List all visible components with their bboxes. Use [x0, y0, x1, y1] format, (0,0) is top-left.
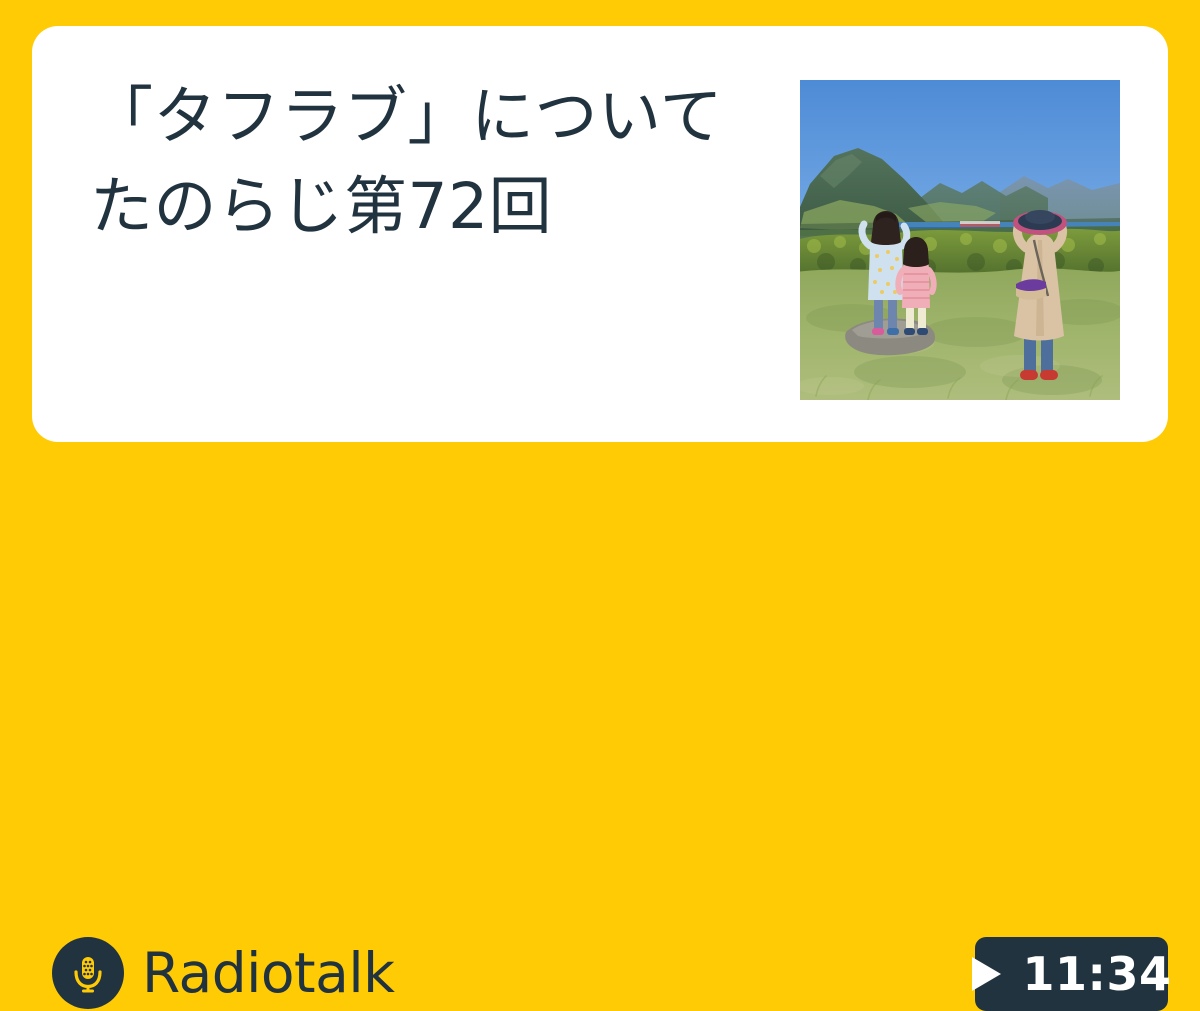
- brand-logo[interactable]: Radiotalk: [52, 937, 394, 1009]
- footer-bar: Radiotalk 11:34: [0, 442, 1200, 630]
- microphone-icon: [66, 951, 110, 995]
- episode-thumbnail: [800, 80, 1120, 400]
- play-button[interactable]: 11:34: [975, 937, 1168, 1011]
- play-triangle-icon: [972, 957, 1001, 991]
- episode-share-card: 「タフラブ」について たのらじ第72回: [32, 26, 1168, 442]
- brand-wordmark: Radiotalk: [142, 946, 394, 1001]
- duration-label: 11:34: [1023, 951, 1172, 997]
- brand-mark: [52, 937, 124, 1009]
- page-title: 「タフラブ」について たのらじ第72回: [32, 26, 744, 252]
- landscape-photo-icon: [800, 80, 1120, 400]
